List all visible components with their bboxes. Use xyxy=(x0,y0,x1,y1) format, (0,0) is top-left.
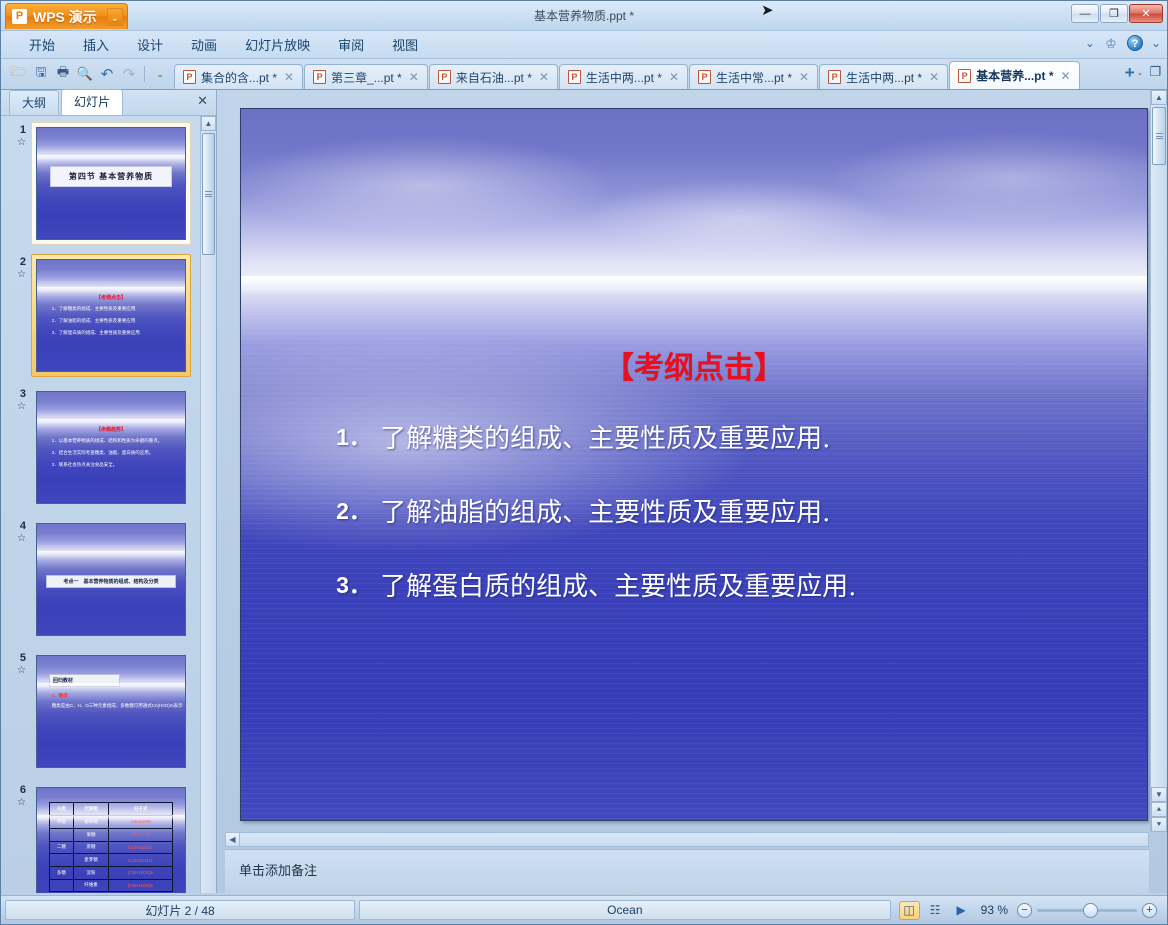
notes-placeholder: 单击添加备注 xyxy=(239,863,317,878)
window-list-icon[interactable]: ❐ xyxy=(1149,64,1161,80)
thumbnail-bullet-line: 2．结合生活实际考查糖类、油脂、蛋白质的应用。 xyxy=(52,450,154,456)
previous-slide-button[interactable]: ⯅ xyxy=(1151,802,1167,817)
scroll-up-icon[interactable]: ▲ xyxy=(201,116,216,131)
close-icon[interactable]: ✕ xyxy=(797,70,811,84)
scrollbar-grip-icon xyxy=(205,190,212,199)
thumbnail-row[interactable]: 4☆考点一 基本营养物质的组成、结构及分类 xyxy=(11,518,196,641)
menu-item-insert[interactable]: 插入 xyxy=(69,32,123,57)
thumbnail-table-cell: C12H22O11 xyxy=(109,854,173,867)
current-slide[interactable]: 【考纲点击】 1．了解糖类的组成、主要性质及重要应用.2．了解油脂的组成、主要性… xyxy=(240,108,1148,821)
view-and-zoom-controls: ◫ ☷ ▶ 93 % − + xyxy=(895,901,1167,920)
notes-pane[interactable]: 单击添加备注 xyxy=(225,849,1149,893)
thumbnail-number: 4☆ xyxy=(11,518,31,544)
slide-canvas-area: 【考纲点击】 1．了解糖类的组成、主要性质及重要应用.2．了解油脂的组成、主要性… xyxy=(217,90,1167,832)
slide-thumbnail[interactable]: 分类代表物分子式单糖葡萄糖C6H12O6果糖C6H12O6二糖蔗糖C12H22O… xyxy=(36,787,186,893)
theme-name[interactable]: Ocean xyxy=(359,900,891,920)
print-icon[interactable]: 🖶 xyxy=(53,64,73,84)
thumbnail-bullet-line: 1．糖类 xyxy=(52,693,68,699)
minimize-button[interactable]: — xyxy=(1071,4,1099,23)
wps-presentation-window: P WPS 演示 ⌄ 基本营养物质.ppt * — ❐ ✕ ➤ 开始 插入 设计… xyxy=(0,0,1168,925)
thumbnail-row[interactable]: 1☆第四节 基本营养物质 xyxy=(11,122,196,245)
slide-bullet-item: 1．了解糖类的组成、主要性质及重要应用. xyxy=(336,418,1102,455)
thumbnail-row[interactable]: 3☆【命题趋势】1．以基本营养物质的组成、结构和性质为命题的重点。2．结合生活实… xyxy=(11,386,196,509)
thumbnail-table-cell: C6H12O6 xyxy=(109,828,173,841)
slide-thumbnail[interactable]: 第四节 基本营养物质 xyxy=(36,127,186,240)
slide-content: 【考纲点击】 1．了解糖类的组成、主要性质及重要应用.2．了解油脂的组成、主要性… xyxy=(241,109,1147,820)
thumbnail-selected[interactable]: 【考纲点击】1．了解糖类的组成、主要性质及重要应用.2．了解油脂的组成、主要性质… xyxy=(31,254,191,377)
title-bar: P WPS 演示 ⌄ 基本营养物质.ppt * — ❐ ✕ ➤ xyxy=(1,1,1167,31)
menu-item-home[interactable]: 开始 xyxy=(15,32,69,57)
thumbnail-row[interactable]: 6☆分类代表物分子式单糖葡萄糖C6H12O6果糖C6H12O6二糖蔗糖C12H2… xyxy=(11,782,196,893)
restore-button[interactable]: ❐ xyxy=(1100,4,1128,23)
document-tab[interactable]: P生活中两...pt *✕ xyxy=(819,64,948,89)
thumbnail-table-header: 代表物 xyxy=(74,803,109,816)
thumbnail-table-header: 分子式 xyxy=(109,803,173,816)
print-preview-icon[interactable]: 🔍 xyxy=(75,64,95,84)
thumbnail-scroll-region: 1☆第四节 基本营养物质2☆【考纲点击】1．了解糖类的组成、主要性质及重要应用.… xyxy=(1,115,216,893)
document-tab[interactable]: P来自石油...pt *✕ xyxy=(429,64,558,89)
menu-item-slideshow[interactable]: 幻灯片放映 xyxy=(231,32,324,57)
thumbnail-bullet-line: 1．了解糖类的组成、主要性质及重要应用. xyxy=(52,306,137,312)
presentation-file-icon: P xyxy=(438,70,451,84)
window-controls: — ❐ ✕ xyxy=(1071,4,1163,23)
presentation-file-icon: P xyxy=(313,70,326,84)
menu-item-design[interactable]: 设计 xyxy=(123,32,177,57)
scroll-left-icon[interactable]: ◀ xyxy=(226,833,240,846)
scrollbar-thumb[interactable] xyxy=(202,133,215,255)
qat-more-icon[interactable]: ⌄ xyxy=(150,64,170,84)
thumbnail-bullet-line: 1．以基本营养物质的组成、结构和性质为命题的重点。 xyxy=(52,438,163,444)
save-icon[interactable]: 🖫 xyxy=(31,64,51,84)
thumbnail-table-cell: 淀粉 xyxy=(74,866,109,879)
presentation-file-icon: P xyxy=(828,70,841,84)
thumbnail-title-text: 回归教材 xyxy=(49,674,120,687)
thumbnail-table-cell: C6H12O6 xyxy=(109,816,173,829)
undo-icon[interactable]: ↶ xyxy=(97,64,117,84)
thumbnail-bullet-line: 3．了解蛋白质的组成、主要性质及重要应用. xyxy=(52,330,141,336)
presentation-file-icon: P xyxy=(183,70,196,84)
slides-panel: 大纲 幻灯片 ✕ 1☆第四节 基本营养物质2☆【考纲点击】1．了解糖类的组成、主… xyxy=(1,90,217,893)
thumbnail-title-text: 第四节 基本营养物质 xyxy=(50,166,171,187)
thumbnail-row[interactable]: 2☆【考纲点击】1．了解糖类的组成、主要性质及重要应用.2．了解油脂的组成、主要… xyxy=(11,254,196,377)
quick-access-toolbar: 🗁 🖫 🖶 🔍 ↶ ↷ ⌄ xyxy=(1,61,174,87)
animation-star-icon: ☆ xyxy=(17,797,26,809)
document-tab-label: 集合的含...pt * xyxy=(201,69,277,86)
bullet-number: 2． xyxy=(336,492,380,526)
slide-sorter-icon[interactable]: ☷ xyxy=(925,901,946,920)
tab-strip-actions: + ⌄ ❐ xyxy=(1121,58,1167,89)
zoom-in-button[interactable]: + xyxy=(1142,903,1157,918)
close-panel-icon[interactable]: ✕ xyxy=(197,93,208,109)
ribbon-menu-bar: 开始 插入 设计 动画 幻灯片放映 审阅 视图 ⌄ ♔ ? ⌄ xyxy=(1,31,1167,59)
thumbnail-table-cell: 葡萄糖 xyxy=(74,816,109,829)
animation-star-icon: ☆ xyxy=(17,533,26,545)
panel-tab-bar: 大纲 幻灯片 ✕ xyxy=(1,90,216,115)
open-icon[interactable]: 🗁 xyxy=(9,64,29,84)
document-tab-label: 基本营养...pt * xyxy=(976,67,1053,84)
thumbnail-title-text: 【考纲点击】 xyxy=(37,294,185,301)
document-tab-label: 生活中常...pt * xyxy=(716,69,792,86)
workspace: 大纲 幻灯片 ✕ 1☆第四节 基本营养物质2☆【考纲点击】1．了解糖类的组成、主… xyxy=(1,90,1167,893)
close-icon[interactable]: ✕ xyxy=(537,70,551,84)
thumbnail-title-text: 【命题趋势】 xyxy=(37,426,185,433)
thumbnail-table-cell: 麦芽糖 xyxy=(74,854,109,867)
slide-editor: 【考纲点击】 1．了解糖类的组成、主要性质及重要应用.2．了解油脂的组成、主要性… xyxy=(217,90,1167,893)
menu-item-animation[interactable]: 动画 xyxy=(177,32,231,57)
thumbnail-row[interactable]: 5☆回归教材1．糖类糖类是由C、H、O三种元素组成，多数糖可用通式Cn(H2O)… xyxy=(11,650,196,773)
bullet-text: 了解糖类的组成、主要性质及重要应用. xyxy=(380,418,830,455)
thumbnail-number: 1☆ xyxy=(11,122,31,148)
thumbnail-table-cell: (C6H10O5)n xyxy=(109,866,173,879)
animation-star-icon: ☆ xyxy=(17,665,26,677)
slide-bullet-list[interactable]: 1．了解糖类的组成、主要性质及重要应用.2．了解油脂的组成、主要性质及重要应用.… xyxy=(336,418,1102,640)
document-title: 基本营养物质.ppt * xyxy=(1,7,1167,24)
help-icon[interactable]: ? xyxy=(1127,35,1143,51)
document-tab[interactable]: P基本营养...pt *✕ xyxy=(949,61,1079,89)
tab-outline[interactable]: 大纲 xyxy=(9,90,59,115)
thumbnail-table-cell: C12H22O11 xyxy=(109,841,173,854)
slide-thumbnail[interactable]: 【命题趋势】1．以基本营养物质的组成、结构和性质为命题的重点。2．结合生活实际考… xyxy=(36,391,186,504)
thumbnail-number: 5☆ xyxy=(11,650,31,676)
thumbnail-table-cell: 二糖 xyxy=(49,841,73,854)
slide-counter: 幻灯片 2 / 48 xyxy=(5,900,355,920)
menu-item-review[interactable]: 审阅 xyxy=(324,32,378,57)
zoom-slider[interactable] xyxy=(1037,909,1137,912)
thumbnail-box[interactable]: 【命题趋势】1．以基本营养物质的组成、结构和性质为命题的重点。2．结合生活实际考… xyxy=(31,386,191,509)
thumbnail-table-header: 分类 xyxy=(49,803,73,816)
chevron-down-icon[interactable]: ⌄ xyxy=(1085,36,1095,50)
animation-star-icon: ☆ xyxy=(17,269,26,281)
close-icon[interactable]: ✕ xyxy=(667,70,681,84)
help-chevron-down-icon[interactable]: ⌄ xyxy=(1151,36,1161,50)
slide-vertical-scrollbar[interactable]: ▲ ▼ ⯅ ⯆ xyxy=(1150,90,1167,832)
thumbnail-bullet-line: 3．联系社会热点关注食品安全。 xyxy=(52,462,118,468)
zoom-slider-knob[interactable] xyxy=(1083,903,1098,918)
thumbnail-table-cell: 多糖 xyxy=(49,866,73,879)
slide-title-text[interactable]: 【考纲点击】 xyxy=(241,343,1147,387)
thumbnail-number: 3☆ xyxy=(11,386,31,412)
normal-view-icon[interactable]: ◫ xyxy=(899,901,920,920)
thumbnail-box[interactable]: 第四节 基本营养物质 xyxy=(31,122,191,245)
menubar-right-tools: ⌄ ♔ ? ⌄ xyxy=(1085,35,1161,51)
animation-star-icon: ☆ xyxy=(17,401,26,413)
thumbnail-table-cell: 果糖 xyxy=(74,828,109,841)
presentation-file-icon: P xyxy=(698,70,711,84)
slide-bullet-item: 2．了解油脂的组成、主要性质及重要应用. xyxy=(336,492,1102,529)
document-tab[interactable]: P第三章_...pt *✕ xyxy=(304,64,428,89)
zoom-level-label: 93 % xyxy=(977,903,1012,917)
slide-thumbnail[interactable]: 考点一 基本营养物质的组成、结构及分类 xyxy=(36,523,186,636)
next-slide-button[interactable]: ⯆ xyxy=(1151,817,1167,832)
open-documents-tabs: P集合的含...pt *✕P第三章_...pt *✕P来自石油...pt *✕P… xyxy=(174,58,1121,89)
slide-horizontal-scrollbar[interactable]: ◀ xyxy=(225,832,1149,847)
document-tab-label: 生活中两...pt * xyxy=(586,69,662,86)
thumbnail-number: 2☆ xyxy=(11,254,31,280)
thumbnail-number: 6☆ xyxy=(11,782,31,808)
bullet-text: 了解油脂的组成、主要性质及重要应用. xyxy=(380,492,830,529)
presentation-file-icon: P xyxy=(568,70,581,84)
scrollbar-thumb[interactable] xyxy=(1152,107,1166,165)
close-icon[interactable]: ✕ xyxy=(1059,69,1073,83)
thumbnail-table-cell: 纤维素 xyxy=(74,879,109,892)
slide-thumbnail[interactable]: 回归教材1．糖类糖类是由C、H、O三种元素组成，多数糖可用通式Cn(H2O)m表… xyxy=(36,655,186,768)
close-icon[interactable]: ✕ xyxy=(282,70,296,84)
close-icon[interactable]: ✕ xyxy=(927,70,941,84)
document-tab[interactable]: P生活中常...pt *✕ xyxy=(689,64,818,89)
presentation-file-icon: P xyxy=(958,69,971,83)
thumbnail-list: 1☆第四节 基本营养物质2☆【考纲点击】1．了解糖类的组成、主要性质及重要应用.… xyxy=(1,116,200,893)
close-button[interactable]: ✕ xyxy=(1129,4,1163,23)
scroll-down-icon[interactable]: ▼ xyxy=(1151,787,1167,802)
thumbnail-table-cell xyxy=(49,854,73,867)
slide-bullet-item: 3．了解蛋白质的组成、主要性质及重要应用. xyxy=(336,566,1102,603)
scroll-up-icon[interactable]: ▲ xyxy=(1151,90,1167,105)
thumbnail-table-cell: 蔗糖 xyxy=(74,841,109,854)
skin-icon[interactable]: ♔ xyxy=(1103,36,1119,51)
bullet-text: 了解蛋白质的组成、主要性质及重要应用. xyxy=(380,566,856,603)
mouse-cursor-icon: ➤ xyxy=(761,1,774,19)
thumbnail-scrollbar[interactable]: ▲ xyxy=(200,116,216,893)
thumbnail-table-cell xyxy=(49,828,73,841)
slideshow-icon[interactable]: ▶ xyxy=(951,901,972,920)
bullet-number: 1． xyxy=(336,418,380,452)
redo-icon[interactable]: ↷ xyxy=(119,64,139,84)
scrollbar-grip-icon xyxy=(1156,132,1163,141)
document-tab[interactable]: P生活中两...pt *✕ xyxy=(559,64,688,89)
document-tab-label: 来自石油...pt * xyxy=(456,69,532,86)
thumbnail-table-cell xyxy=(49,879,73,892)
document-tab-label: 生活中两...pt * xyxy=(846,69,922,86)
status-bar: 幻灯片 2 / 48 Ocean ◫ ☷ ▶ 93 % − + xyxy=(1,895,1167,924)
thumbnail-box[interactable]: 考点一 基本营养物质的组成、结构及分类 xyxy=(31,518,191,641)
thumbnail-table: 分类代表物分子式单糖葡萄糖C6H12O6果糖C6H12O6二糖蔗糖C12H22O… xyxy=(49,802,173,892)
thumbnail-box[interactable]: 分类代表物分子式单糖葡萄糖C6H12O6果糖C6H12O6二糖蔗糖C12H22O… xyxy=(31,782,191,893)
close-icon[interactable]: ✕ xyxy=(407,70,421,84)
tab-slides[interactable]: 幻灯片 xyxy=(61,89,123,115)
new-tab-button[interactable]: + xyxy=(1125,64,1135,81)
slide-thumbnail[interactable]: 【考纲点击】1．了解糖类的组成、主要性质及重要应用.2．了解油脂的组成、主要性质… xyxy=(36,259,186,372)
toolbar-divider xyxy=(144,66,145,82)
thumbnail-title-text: 考点一 基本营养物质的组成、结构及分类 xyxy=(46,575,176,588)
scrollbar-bottom-group: ▼ ⯅ ⯆ xyxy=(1151,787,1167,832)
thumbnail-box[interactable]: 回归教材1．糖类糖类是由C、H、O三种元素组成，多数糖可用通式Cn(H2O)m表… xyxy=(31,650,191,773)
document-tab[interactable]: P集合的含...pt *✕ xyxy=(174,64,303,89)
thumbnail-bullet-line: 糖类是由C、H、O三种元素组成，多数糖可用通式Cn(H2O)m表示 xyxy=(52,703,183,709)
thumbnail-table-cell: (C6H10O5)n xyxy=(109,879,173,892)
thumbnail-bullet-line: 2．了解油脂的组成、主要性质及重要应用. xyxy=(52,318,137,324)
document-tab-label: 第三章_...pt * xyxy=(331,69,402,86)
zoom-out-button[interactable]: − xyxy=(1017,903,1032,918)
animation-star-icon: ☆ xyxy=(17,137,26,149)
thumbnail-table-cell: 单糖 xyxy=(49,816,73,829)
menu-item-view[interactable]: 视图 xyxy=(378,32,432,57)
document-tab-strip: 🗁 🖫 🖶 🔍 ↶ ↷ ⌄ P集合的含...pt *✕P第三章_...pt *✕… xyxy=(1,59,1167,90)
bullet-number: 3． xyxy=(336,566,380,600)
new-tab-chevron-down-icon[interactable]: ⌄ xyxy=(1137,68,1144,77)
